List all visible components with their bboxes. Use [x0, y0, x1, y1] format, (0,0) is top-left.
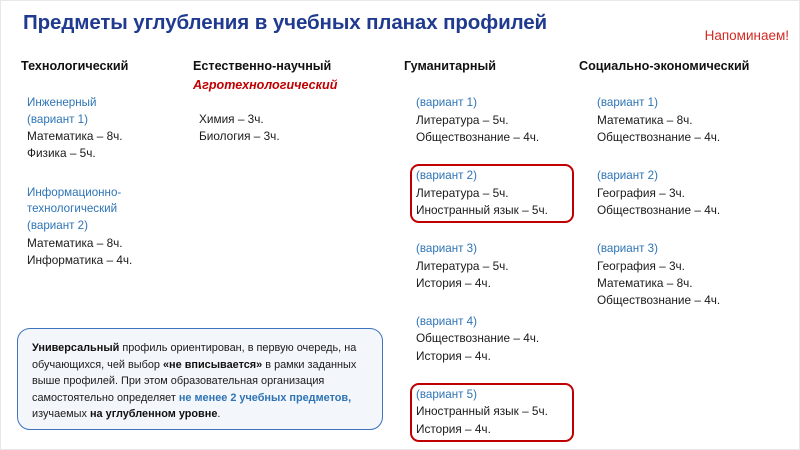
- subject-item: Информатика – 4ч.: [27, 252, 185, 269]
- subject-item: Обществознание – 4ч.: [416, 129, 568, 146]
- variant-list: Инженерный(вариант 1)Математика – 8ч.Физ…: [21, 91, 191, 273]
- profile-column: Социально-экономический(вариант 1)Матема…: [579, 59, 794, 327]
- subject-item: Математика – 8ч.: [27, 235, 185, 252]
- variant-label: (вариант 2): [27, 218, 185, 235]
- reminder-badge: Напоминаем!: [705, 28, 789, 43]
- variant-label: Информационно-: [27, 185, 185, 202]
- profile-column-heading: Социально-экономический: [579, 59, 794, 75]
- subject-item: История – 4ч.: [416, 421, 568, 438]
- profile-column: Гуманитарный(вариант 1)Литература – 5ч.О…: [404, 59, 574, 450]
- variant-label: (вариант 2): [597, 168, 788, 185]
- profile-column-heading: Естественно-научный: [193, 59, 393, 75]
- variant-label: (вариант 4): [416, 314, 568, 331]
- variant-label: (вариант 1): [416, 95, 568, 112]
- info-emphasis: «не вписывается»: [163, 359, 262, 371]
- variant-block-highlighted: (вариант 2)Литература – 5ч.Иностранный я…: [410, 164, 574, 223]
- variant-block: (вариант 3)География – 3ч.Математика – 8…: [591, 237, 794, 313]
- subject-item: Химия – 3ч.: [199, 111, 393, 128]
- universal-profile-info-text: Универсальный профиль ориентирован, в пе…: [32, 340, 370, 423]
- variant-block: (вариант 1)Математика – 8ч.Обществознани…: [591, 91, 794, 150]
- variant-label: технологический: [27, 201, 185, 218]
- subject-item: География – 3ч.: [597, 185, 788, 202]
- variant-block: (вариант 4)Обществознание – 4ч.История –…: [410, 310, 574, 369]
- subject-item: Математика – 8ч.: [27, 128, 185, 145]
- subject-item: Иностранный язык – 5ч.: [416, 403, 568, 420]
- variant-list: (вариант 1)Литература – 5ч.Обществознани…: [404, 91, 574, 450]
- subject-item: Обществознание – 4ч.: [597, 202, 788, 219]
- variant-block: Информационно-технологический(вариант 2)…: [21, 181, 191, 274]
- universal-profile-info-box: Универсальный профиль ориентирован, в пе…: [17, 328, 383, 430]
- page-title: Предметы углубления в учебных планах про…: [23, 11, 547, 35]
- profile-column-heading: Гуманитарный: [404, 59, 574, 75]
- variant-block: (вариант 2)География – 3ч.Обществознание…: [591, 164, 794, 223]
- variant-block: (вариант 1)Литература – 5ч.Обществознани…: [410, 91, 574, 150]
- subject-item: Литература – 5ч.: [416, 112, 568, 129]
- info-highlight: не менее 2 учебных предметов,: [179, 392, 351, 404]
- variant-list: (вариант 1)Математика – 8ч.Обществознани…: [579, 91, 794, 313]
- subject-item: Математика – 8ч.: [597, 275, 788, 292]
- info-text-run: .: [217, 408, 220, 420]
- subject-item: География – 3ч.: [597, 258, 788, 275]
- variant-block: (вариант 3)Литература – 5ч.История – 4ч.: [410, 237, 574, 296]
- subject-item: История – 4ч.: [416, 275, 568, 292]
- subject-item: Литература – 5ч.: [416, 185, 568, 202]
- info-text-run: изучаемых: [32, 408, 90, 420]
- profile-column-heading: Технологический: [21, 59, 191, 75]
- subject-item: История – 4ч.: [416, 348, 568, 365]
- subject-item: Обществознание – 4ч.: [416, 330, 568, 347]
- variant-label: (вариант 2): [416, 168, 568, 185]
- slide-root: Предметы углубления в учебных планах про…: [0, 0, 800, 450]
- profile-column: ТехнологическийИнженерный(вариант 1)Мате…: [21, 59, 191, 287]
- subject-item: Иностранный язык – 5ч.: [416, 202, 568, 219]
- variant-label: (вариант 1): [597, 95, 788, 112]
- info-emphasis: на углубленном уровне: [90, 408, 217, 420]
- subject-item: Математика – 8ч.: [597, 112, 788, 129]
- variant-label: (вариант 3): [416, 241, 568, 258]
- variant-label: (вариант 1): [27, 112, 185, 129]
- subject-item: Обществознание – 4ч.: [597, 292, 788, 309]
- variant-label: (вариант 3): [597, 241, 788, 258]
- profile-column: Естественно-научныйАгротехнологическийХи…: [193, 59, 393, 145]
- profile-column-subheading: Агротехнологический: [193, 77, 393, 93]
- subject-item: Биология – 3ч.: [199, 128, 393, 145]
- variant-label: Инженерный: [27, 95, 185, 112]
- variant-block-highlighted: (вариант 5)Иностранный язык – 5ч.История…: [410, 383, 574, 442]
- subject-item: Физика – 5ч.: [27, 145, 185, 162]
- variant-label: (вариант 5): [416, 387, 568, 404]
- subject-item: Литература – 5ч.: [416, 258, 568, 275]
- subject-list: Химия – 3ч.Биология – 3ч.: [193, 111, 393, 145]
- variant-block: Инженерный(вариант 1)Математика – 8ч.Физ…: [21, 91, 191, 167]
- subject-item: Обществознание – 4ч.: [597, 129, 788, 146]
- info-emphasis: Универсальный: [32, 342, 119, 354]
